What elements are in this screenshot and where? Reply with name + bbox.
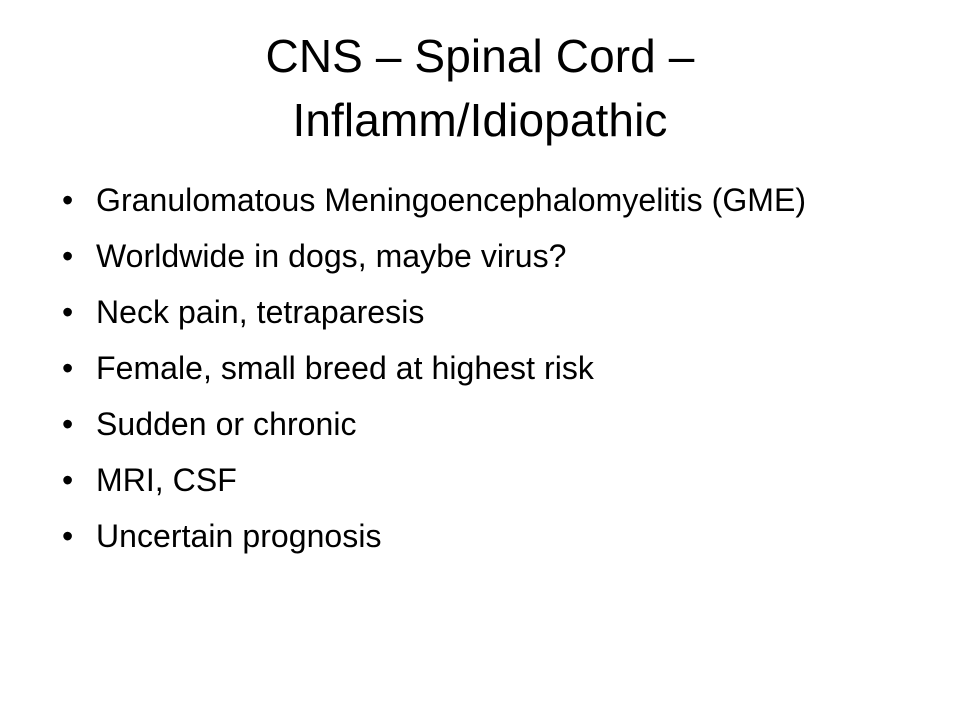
list-item: • Granulomatous Meningoencephalomyelitis…: [56, 172, 916, 228]
bullet-list: • Granulomatous Meningoencephalomyelitis…: [56, 172, 916, 564]
bullet-point-icon: •: [62, 508, 82, 564]
list-item: • Uncertain prognosis: [56, 508, 916, 564]
list-item: • MRI, CSF: [56, 452, 916, 508]
list-item: • Worldwide in dogs, maybe virus?: [56, 228, 916, 284]
bullet-point-icon: •: [62, 396, 82, 452]
list-item: • Neck pain, tetraparesis: [56, 284, 916, 340]
title-line-1: CNS – Spinal Cord –: [40, 24, 920, 88]
slide-canvas: CNS – Spinal Cord – Inflamm/Idiopathic •…: [0, 0, 960, 720]
list-item-label: Granulomatous Meningoencephalomyelitis (…: [96, 172, 886, 228]
title-line-2: Inflamm/Idiopathic: [40, 88, 920, 152]
list-item: • Sudden or chronic: [56, 396, 916, 452]
list-item-label: Uncertain prognosis: [96, 508, 916, 564]
list-item-label: Worldwide in dogs, maybe virus?: [96, 228, 916, 284]
list-item-label: Female, small breed at highest risk: [96, 340, 916, 396]
bullet-point-icon: •: [62, 172, 82, 228]
list-item-label: Sudden or chronic: [96, 396, 916, 452]
page-title: CNS – Spinal Cord – Inflamm/Idiopathic: [40, 24, 920, 152]
bullet-point-icon: •: [62, 284, 82, 340]
bullet-point-icon: •: [62, 228, 82, 284]
list-item: • Female, small breed at highest risk: [56, 340, 916, 396]
bullet-point-icon: •: [62, 340, 82, 396]
bullet-point-icon: •: [62, 452, 82, 508]
list-item-label: Neck pain, tetraparesis: [96, 284, 916, 340]
list-item-label: MRI, CSF: [96, 452, 916, 508]
